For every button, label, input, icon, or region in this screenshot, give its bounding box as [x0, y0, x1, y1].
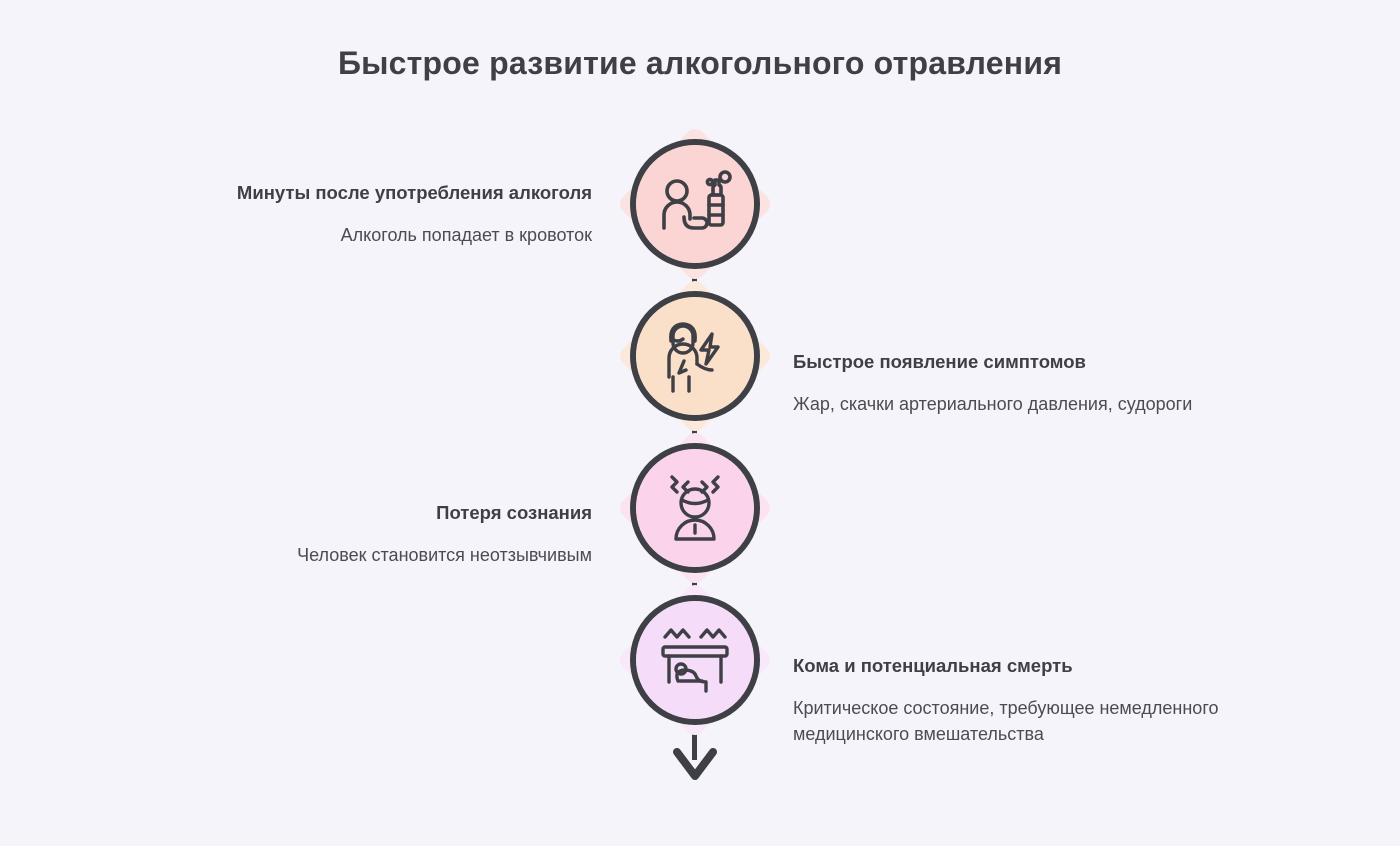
step-text-4: Кома и потенциальная смерть Критическое …	[793, 653, 1233, 747]
step-description-4: Критическое состояние, требующее немедле…	[793, 695, 1233, 747]
timeline-arrow-icon	[673, 748, 717, 782]
person-on-hospital-bed-icon	[656, 621, 734, 699]
step-heading-3: Потеря сознания	[172, 500, 592, 526]
step-heading-4: Кома и потенциальная смерть	[793, 653, 1233, 679]
step-text-3: Потеря сознания Человек становится неотз…	[172, 500, 592, 568]
person-with-bottle-icon	[656, 165, 734, 243]
timeline-node-2[interactable]	[630, 291, 760, 421]
step-description-3: Человек становится неотзывчивым	[172, 542, 592, 568]
person-with-lightning-icon	[656, 317, 734, 395]
timeline-node-4[interactable]	[630, 595, 760, 725]
timeline-node-1[interactable]	[630, 139, 760, 269]
step-heading-1: Минуты после употребления алкоголя	[172, 180, 592, 206]
timeline-node-3[interactable]	[630, 443, 760, 573]
unconscious-person-icon	[656, 469, 734, 547]
infographic-page: Быстрое развитие алкогольного отравления	[0, 0, 1400, 846]
step-text-2: Быстрое появление симптомов Жар, скачки …	[793, 349, 1233, 417]
step-description-2: Жар, скачки артериального давления, судо…	[793, 391, 1233, 417]
page-title: Быстрое развитие алкогольного отравления	[0, 45, 1400, 82]
step-heading-2: Быстрое появление симптомов	[793, 349, 1233, 375]
step-text-1: Минуты после употребления алкоголя Алког…	[172, 180, 592, 248]
step-description-1: Алкоголь попадает в кровоток	[172, 222, 592, 248]
